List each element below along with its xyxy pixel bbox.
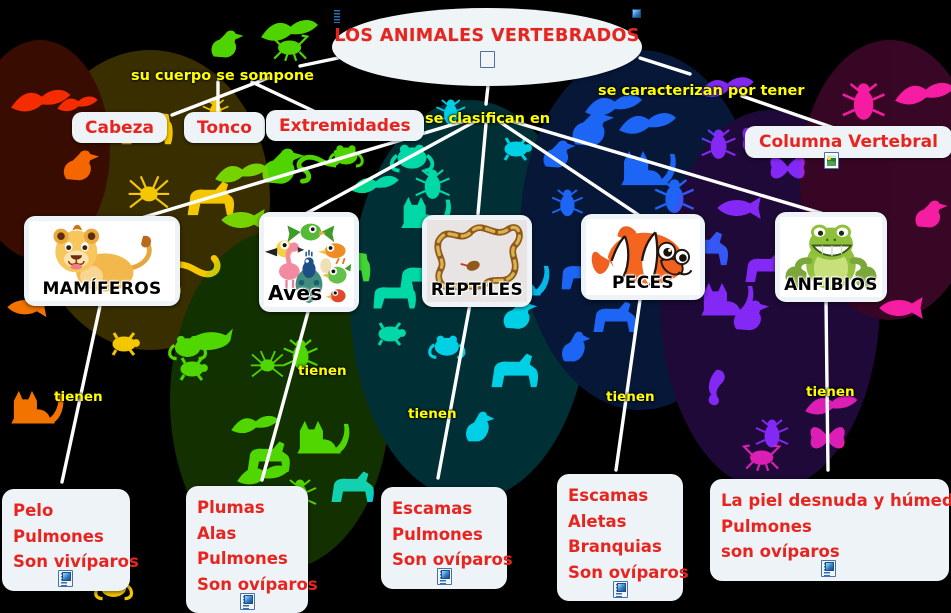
green-frog-illustration: ANFIBIOS (780, 217, 882, 297)
card-anfibios[interactable]: ANFIBIOS (775, 212, 887, 302)
link-label-characteristic: se caracterizan por tener (598, 83, 805, 99)
link-label-have-reptiles: tienen (408, 406, 457, 422)
node-tonco-label: Tonco (197, 118, 252, 138)
document-icon[interactable] (58, 570, 73, 587)
trait-box-reptiles[interactable]: Escamas Pulmones Son ovíparos (381, 487, 507, 589)
trait-box-aves[interactable]: Plumas Alas Pulmones Son ovíparos (186, 486, 308, 613)
document-icon[interactable] (240, 593, 255, 610)
card-mamiferos[interactable]: MAMÍFEROS (24, 216, 180, 306)
root-node-title[interactable]: LOS ANIMALES VERTEBRADOS (332, 8, 642, 86)
document-icon[interactable] (613, 581, 628, 598)
card-aves-caption: Aves (264, 281, 354, 305)
trait-line: Alas (197, 521, 297, 547)
page-title: LOS ANIMALES VERTEBRADOS (334, 26, 640, 46)
trait-line: Aletas (568, 509, 672, 535)
image-icon[interactable] (824, 152, 839, 169)
trait-box-mamiferos[interactable]: Pelo Pulmones Son vivíparos (2, 489, 130, 591)
node-cabeza-label: Cabeza (85, 118, 154, 138)
trait-box-peces[interactable]: Escamas Aletas Branquias Son ovíparos (557, 474, 683, 601)
trait-line: Plumas (197, 495, 297, 521)
trait-line: Pulmones (721, 514, 938, 540)
lion-cub-illustration: MAMÍFEROS (29, 221, 175, 301)
node-tonco[interactable]: Tonco (184, 112, 265, 143)
card-mamiferos-caption: MAMÍFEROS (29, 279, 175, 299)
card-aves[interactable]: Aves (259, 212, 359, 312)
trait-line: Escamas (568, 483, 672, 509)
trait-line: Branquias (568, 534, 672, 560)
document-icon[interactable] (437, 568, 452, 585)
link-label-have-birds: tienen (298, 363, 347, 379)
snake-photo: REPTILES (427, 220, 527, 302)
card-reptiles-caption: REPTILES (427, 280, 527, 300)
concept-map-canvas: LOS ANIMALES VERTEBRADOS su cuerpo se so… (0, 0, 951, 613)
link-label-have-fish: tienen (606, 389, 655, 405)
link-label-have-amphibians: tienen (806, 384, 855, 400)
trait-line: Pulmones (13, 524, 119, 550)
link-label-composition: su cuerpo se sompone (131, 68, 314, 84)
document-icon[interactable] (821, 560, 836, 577)
clownfish-illustration: PECES (586, 219, 700, 295)
link-label-have-mammals: tienen (54, 389, 103, 405)
trait-line: Pulmones (197, 546, 297, 572)
trait-line: Escamas (392, 496, 496, 522)
birds-collection-illustration: Aves (264, 217, 354, 307)
document-icon[interactable] (480, 51, 495, 68)
trait-line: La piel desnuda y húmeda (721, 488, 938, 514)
node-cabeza[interactable]: Cabeza (72, 112, 167, 143)
trait-box-anfibios[interactable]: La piel desnuda y húmeda Pulmones son ov… (710, 479, 949, 581)
node-extremidades-label: Extremidades (279, 116, 411, 136)
card-peces-caption: PECES (586, 273, 700, 293)
node-columna-vertebral-label: Columna Vertebral (759, 132, 938, 152)
card-peces[interactable]: PECES (581, 214, 705, 300)
card-anfibios-caption: ANFIBIOS (780, 275, 882, 295)
node-extremidades[interactable]: Extremidades (266, 110, 424, 141)
card-reptiles[interactable]: REPTILES (422, 215, 532, 307)
node-columna-vertebral[interactable]: Columna Vertebral (745, 126, 951, 158)
link-label-classification: se clasifican en (425, 111, 550, 127)
trait-line: Pelo (13, 498, 119, 524)
trait-line: Pulmones (392, 522, 496, 548)
